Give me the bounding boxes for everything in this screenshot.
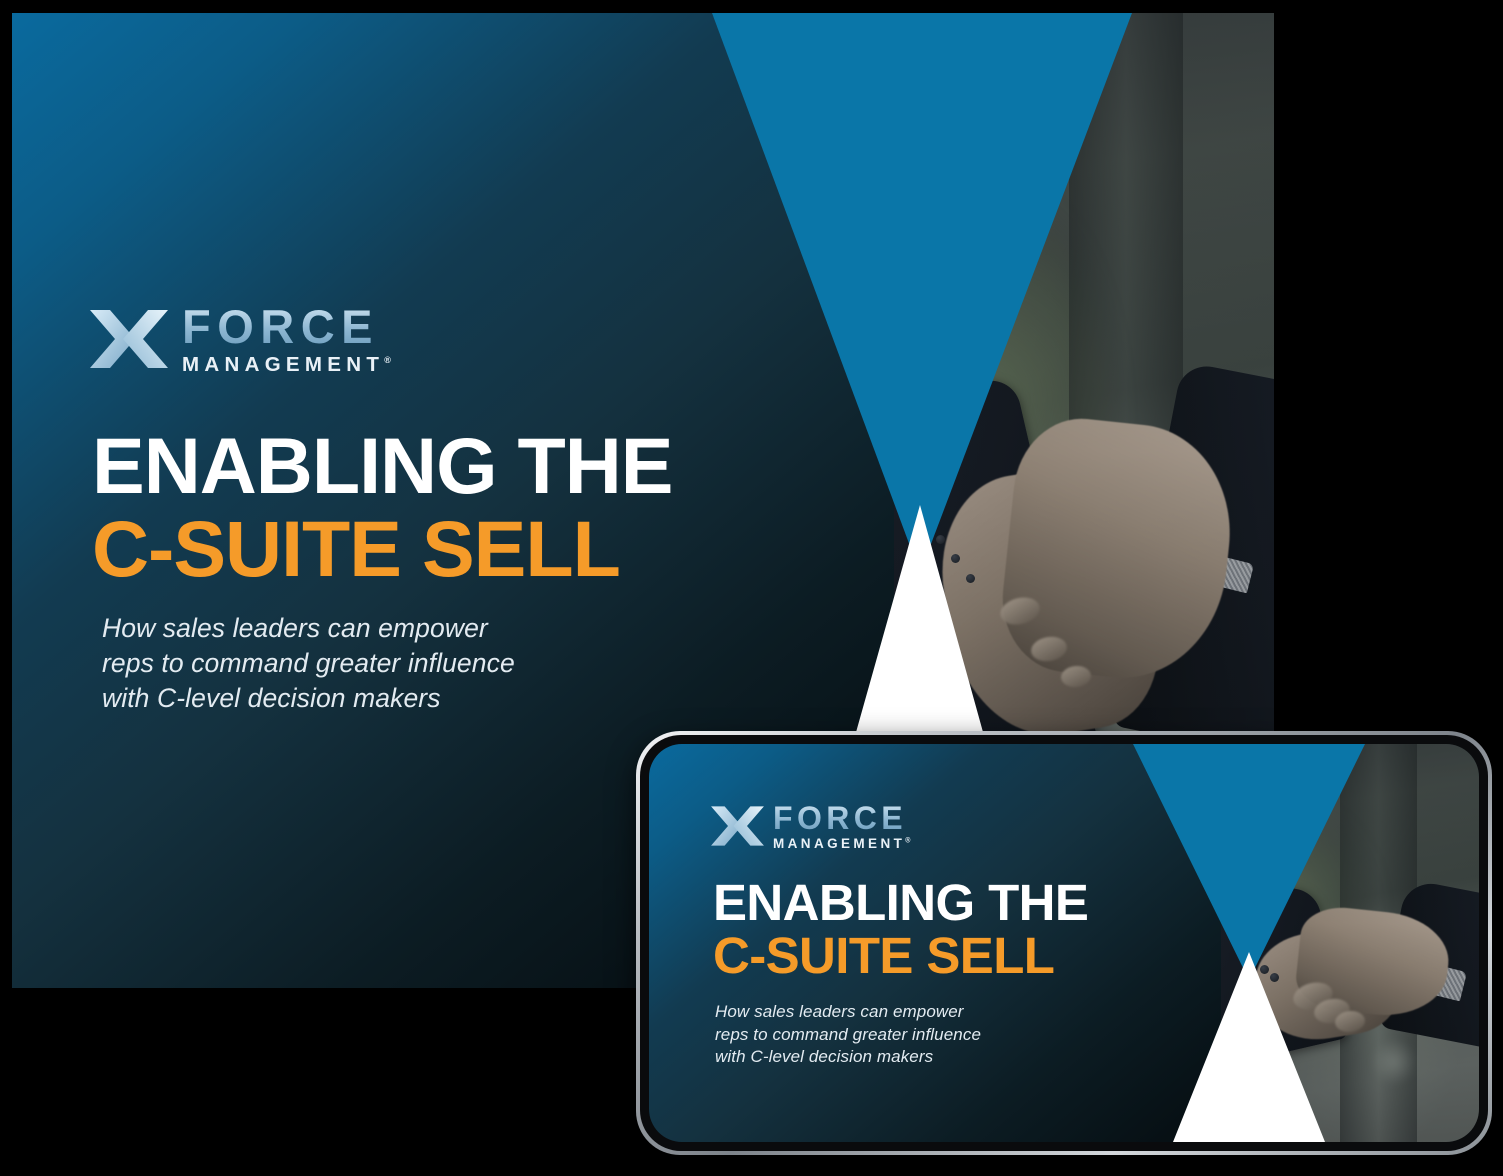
cover-logo: FORCE MANAGEMENT® [90, 303, 396, 376]
phone-handshake-scene [1221, 744, 1479, 1142]
phone-wordmark-force: FORCE [773, 802, 914, 834]
phone-subtitle-line3: with C-level decision makers [715, 1046, 981, 1069]
wordmark-management: MANAGEMENT® [182, 355, 396, 376]
phone-registered-mark: ® [905, 838, 914, 845]
cover-title-line1: ENABLING THE [92, 428, 673, 505]
phone-handshake-photo [1221, 744, 1479, 1142]
phone-title-line1: ENABLING THE [713, 878, 1088, 928]
screenshot-stage: FORCE MANAGEMENT® ENABLING THE C-SUITE S… [0, 0, 1503, 1176]
phone-subtitle: How sales leaders can empower reps to co… [715, 1001, 981, 1069]
phone-mockup: FORCE MANAGEMENT® ENABLING THE C-SUITE S… [636, 731, 1492, 1155]
cover-wordmark: FORCE MANAGEMENT® [182, 303, 396, 376]
phone-x-logo-mark-icon [711, 805, 764, 847]
phone-title: ENABLING THE C-SUITE SELL [713, 878, 1088, 982]
registered-mark: ® [384, 355, 396, 365]
phone-logo: FORCE MANAGEMENT® [711, 802, 914, 851]
phone-wordmark: FORCE MANAGEMENT® [773, 802, 914, 851]
phone-bezel: FORCE MANAGEMENT® ENABLING THE C-SUITE S… [640, 735, 1488, 1151]
x-logo-mark-icon [90, 308, 168, 370]
cover-title-line2: C-SUITE SELL [92, 509, 673, 590]
wordmark-force: FORCE [182, 303, 396, 350]
cover-subtitle: How sales leaders can empower reps to co… [102, 611, 515, 717]
phone-title-line2: C-SUITE SELL [713, 930, 1088, 982]
cover-subtitle-line2: reps to command greater influence [102, 646, 515, 681]
cover-subtitle-line1: How sales leaders can empower [102, 611, 515, 646]
phone-screen: FORCE MANAGEMENT® ENABLING THE C-SUITE S… [649, 744, 1479, 1142]
phone-photo-shading-overlay [1221, 744, 1479, 1142]
phone-subtitle-line1: How sales leaders can empower [715, 1001, 981, 1024]
cover-subtitle-line3: with C-level decision makers [102, 681, 515, 716]
phone-wordmark-management: MANAGEMENT® [773, 837, 914, 851]
phone-subtitle-line2: reps to command greater influence [715, 1024, 981, 1047]
cover-title: ENABLING THE C-SUITE SELL [92, 428, 673, 589]
